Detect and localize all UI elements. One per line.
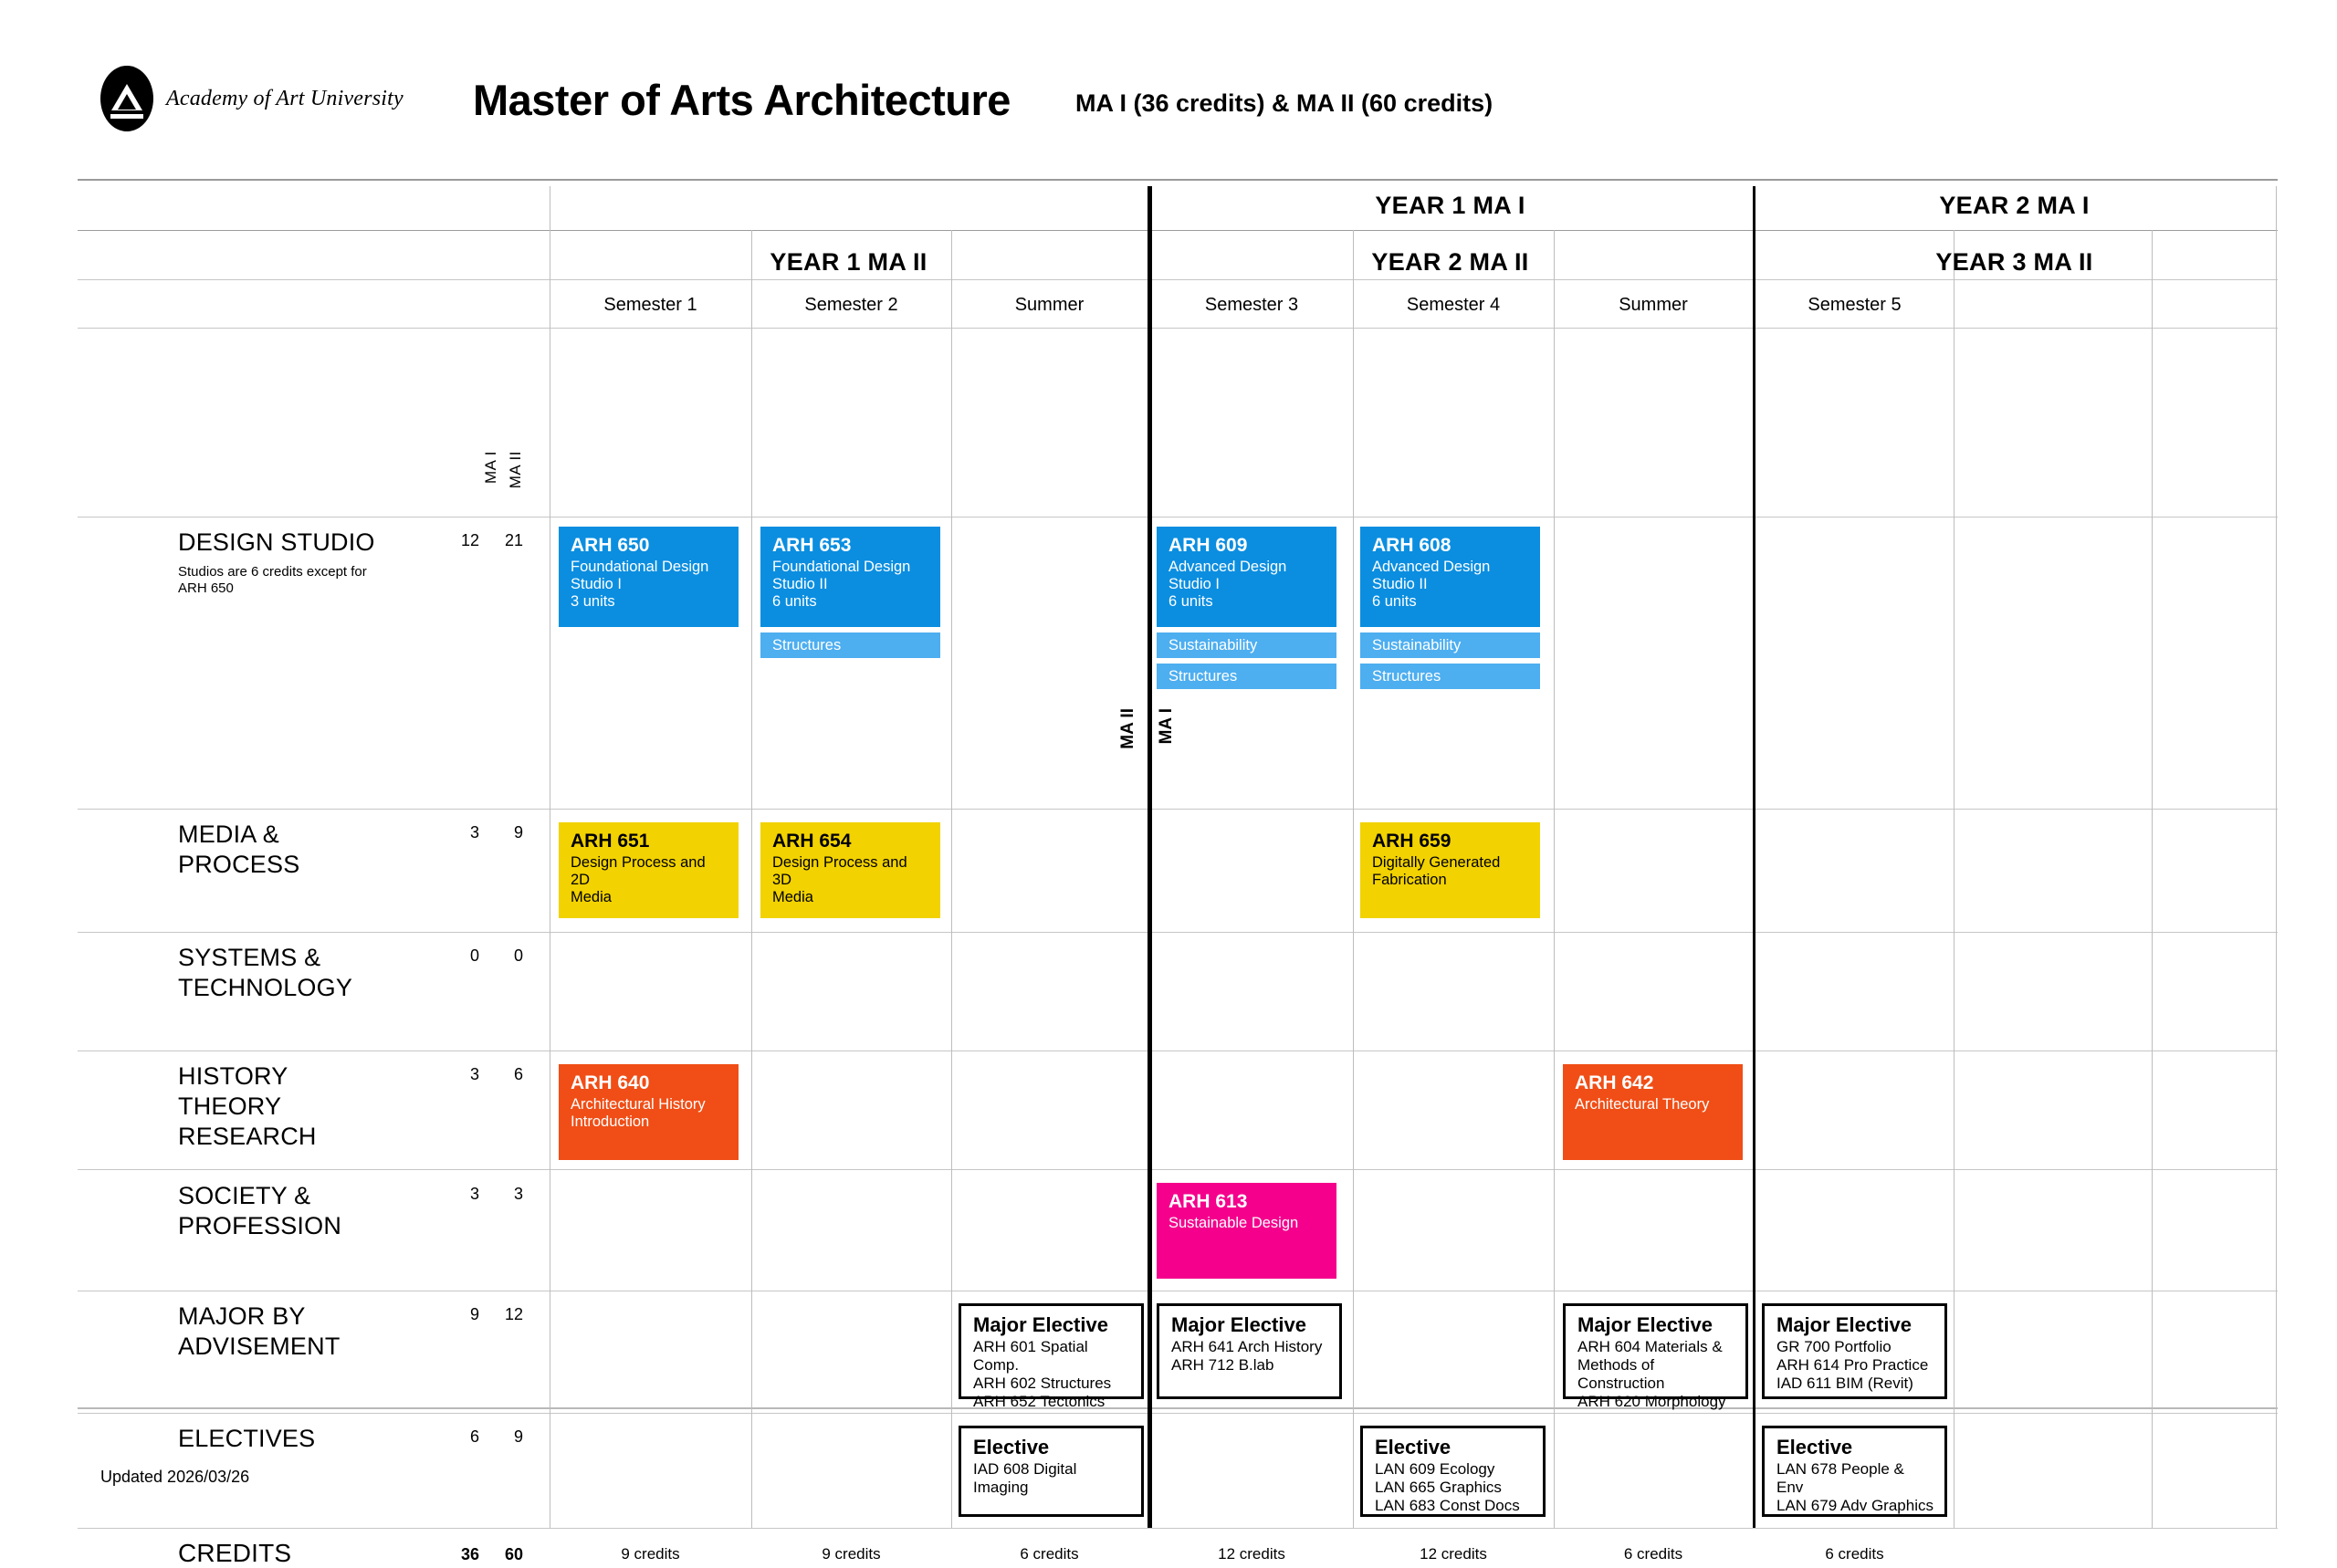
row-ma1-society: 3 (446, 1185, 479, 1204)
course-code: ARH 609 (1168, 535, 1326, 557)
row-ma1-major: 9 (446, 1305, 479, 1324)
row-label-electives: ELECTIVES (178, 1424, 315, 1454)
course-desc: Architectural History Introduction (571, 1096, 728, 1131)
col-header-semester-3: Semester 3 (1150, 295, 1353, 316)
card-title: Elective (1375, 1437, 1533, 1458)
course-code: ARH 613 (1168, 1191, 1326, 1213)
credits-cell-summer-2: 6 credits (1554, 1545, 1753, 1563)
col-sep-sem1-sem2 (751, 230, 752, 1528)
page-subtitle: MA I (36 credits) & MA II (60 credits) (1075, 89, 1493, 118)
course-desc: Sustainable Design (1168, 1215, 1326, 1232)
course-desc: Architectural Theory (1575, 1096, 1733, 1113)
row-ma1-history: 3 (446, 1065, 479, 1084)
tag-structures-arh608[interactable]: Structures (1360, 664, 1540, 689)
row-label-media-process: MEDIA & PROCESS (178, 820, 299, 880)
academy-triangle-logo-icon (100, 66, 153, 131)
row-label-major-by-advisement: MAJOR BY ADVISEMENT (178, 1301, 341, 1362)
col-sep-sem5-blank1 (1954, 230, 1954, 1528)
credits-cell-semester-2: 9 credits (751, 1545, 951, 1563)
col-sep-year2-start (1753, 186, 1755, 1528)
tag-sustainability-arh608[interactable]: Sustainability (1360, 632, 1540, 658)
row-ma2-electives: 9 (490, 1427, 523, 1447)
col-header-semester-5: Semester 5 (1755, 295, 1954, 316)
course-desc: Design Process and 2D Media (571, 854, 728, 906)
course-code: ARH 650 (571, 535, 728, 557)
col-header-summer-2: Summer (1554, 295, 1753, 316)
updated-label: Updated 2026/03/26 (100, 1468, 249, 1487)
major-elective-semester-5[interactable]: Major Elective GR 700 Portfolio ARH 614 … (1762, 1303, 1947, 1399)
row-ma1-electives: 6 (446, 1427, 479, 1447)
credits-cell-semester-1: 9 credits (550, 1545, 751, 1563)
course-desc: Digitally Generated Fabrication (1372, 854, 1530, 889)
major-elective-semester-3[interactable]: Major Elective ARH 641 Arch History ARH … (1157, 1303, 1342, 1399)
row-label-history-theory-research: HISTORY THEORY RESEARCH (178, 1061, 317, 1152)
credits-cell-semester-5: 6 credits (1755, 1545, 1954, 1563)
row-ma2-major: 12 (490, 1305, 523, 1324)
divider-label-ma1: MA I (1157, 708, 1177, 744)
col-sep-sem3-sem4 (1353, 230, 1354, 1528)
row-ma1-systems-technology: 0 (446, 946, 479, 966)
major-elective-summer-2[interactable]: Major Elective ARH 604 Materials & Metho… (1563, 1303, 1748, 1399)
card-courses: LAN 678 People & Env LAN 679 Adv Graphic… (1776, 1460, 1934, 1515)
course-desc: Advanced Design Studio II 6 units (1372, 559, 1530, 611)
credits-row-label: CREDITS (178, 1539, 291, 1568)
credits-cell-summer-1: 6 credits (951, 1545, 1148, 1563)
year-band-year2-ma2: YEAR 2 MA II (1148, 248, 1753, 277)
tag-structures-arh653[interactable]: Structures (760, 632, 940, 658)
row-ma2-media-process: 9 (490, 823, 523, 842)
brand-name: Academy of Art University (166, 87, 403, 111)
col-header-semester-2: Semester 2 (751, 295, 951, 316)
col-sep-sem2-summer (951, 230, 952, 1528)
course-card-arh653[interactable]: ARH 653 Foundational Design Studio II 6 … (760, 527, 940, 627)
year-band-year2-ma1: YEAR 2 MA I (1753, 192, 2276, 220)
course-code: ARH 651 (571, 831, 728, 852)
course-card-arh651[interactable]: ARH 651 Design Process and 2D Media (559, 822, 739, 918)
credits-cell-semester-3: 12 credits (1150, 1545, 1353, 1563)
elective-summer-1[interactable]: Elective IAD 608 Digital Imaging (959, 1426, 1144, 1517)
row-ma2-design-studio: 21 (490, 531, 523, 550)
card-title: Major Elective (1577, 1314, 1735, 1336)
card-title: Elective (973, 1437, 1131, 1458)
card-courses: LAN 609 Ecology LAN 665 Graphics LAN 683… (1375, 1460, 1533, 1515)
row-rule-7 (78, 1413, 2278, 1414)
category-label-column: MA I MA II DESIGN STUDIO Studios are 6 c… (78, 179, 452, 1409)
elective-semester-4[interactable]: Elective LAN 609 Ecology LAN 665 Graphic… (1360, 1426, 1546, 1517)
course-card-arh640[interactable]: ARH 640 Architectural History Introducti… (559, 1064, 739, 1160)
course-desc: Foundational Design Studio I 3 units (571, 559, 728, 611)
course-code: ARH 640 (571, 1072, 728, 1094)
course-code: ARH 653 (772, 535, 930, 557)
row-ma1-design-studio: 12 (446, 531, 479, 550)
card-title: Major Elective (1776, 1314, 1934, 1336)
card-courses: ARH 604 Materials & Methods of Construct… (1577, 1338, 1735, 1411)
card-courses: GR 700 Portfolio ARH 614 Pro Practice IA… (1776, 1338, 1934, 1393)
col-sep-blank1-blank2 (2152, 230, 2153, 1528)
card-courses: IAD 608 Digital Imaging (973, 1460, 1131, 1497)
col-sep-sem1-left (550, 186, 550, 1528)
course-card-arh650[interactable]: ARH 650 Foundational Design Studio I 3 u… (559, 527, 739, 627)
course-card-arh642[interactable]: ARH 642 Architectural Theory (1563, 1064, 1743, 1160)
page-header: Academy of Art University Master of Arts… (0, 0, 2337, 173)
row-note-design-studio: Studios are 6 credits except for ARH 650 (178, 564, 367, 597)
card-courses: ARH 641 Arch History ARH 712 B.lab (1171, 1338, 1329, 1375)
course-card-arh613[interactable]: ARH 613 Sustainable Design (1157, 1183, 1336, 1279)
credits-ma2-total: 60 (490, 1545, 523, 1564)
elective-semester-5[interactable]: Elective LAN 678 People & Env LAN 679 Ad… (1762, 1426, 1947, 1517)
row-ma2-systems-technology: 0 (490, 946, 523, 966)
brand-logo: Academy of Art University (100, 66, 403, 131)
course-desc: Advanced Design Studio I 6 units (1168, 559, 1326, 611)
divider-label-ma2: MA II (1118, 708, 1138, 749)
course-desc: Design Process and 3D Media (772, 854, 930, 906)
ma1-column-header: MA I (482, 451, 500, 484)
course-card-arh659[interactable]: ARH 659 Digitally Generated Fabrication (1360, 822, 1540, 918)
row-ma2-society: 3 (490, 1185, 523, 1204)
col-header-semester-1: Semester 1 (550, 295, 751, 316)
col-sep-sem4-summer2 (1554, 230, 1555, 1528)
year-band-year1-ma1: YEAR 1 MA I (1148, 192, 1753, 220)
col-header-semester-4: Semester 4 (1353, 295, 1554, 316)
year-band-year3-ma2: YEAR 3 MA II (1753, 248, 2276, 277)
frame-right-edge (2276, 186, 2277, 1528)
row-ma1-media-process: 3 (446, 823, 479, 842)
ma2-column-header: MA II (507, 451, 525, 488)
year-band-year1-ma2: YEAR 1 MA II (550, 248, 1148, 277)
course-desc: Foundational Design Studio II 6 units (772, 559, 930, 611)
page-title: Master of Arts Architecture (473, 75, 1011, 125)
row-ma2-history: 6 (490, 1065, 523, 1084)
major-elective-summer-1[interactable]: Major Elective ARH 601 Spatial Comp. ARH… (959, 1303, 1144, 1399)
course-code: ARH 608 (1372, 535, 1530, 557)
course-card-arh608[interactable]: ARH 608 Advanced Design Studio II 6 unit… (1360, 527, 1540, 627)
card-title: Elective (1776, 1437, 1934, 1458)
curriculum-matrix: MA I MA II DESIGN STUDIO Studios are 6 c… (78, 179, 2278, 1409)
card-title: Major Elective (973, 1314, 1131, 1336)
course-code: ARH 654 (772, 831, 930, 852)
course-code: ARH 659 (1372, 831, 1530, 852)
tag-sustainability-arh609[interactable]: Sustainability (1157, 632, 1336, 658)
divider-ma2-ma1 (1148, 186, 1152, 1528)
row-label-design-studio: DESIGN STUDIO (178, 528, 375, 558)
tag-structures-arh609[interactable]: Structures (1157, 664, 1336, 689)
course-code: ARH 642 (1575, 1072, 1733, 1094)
card-title: Major Elective (1171, 1314, 1329, 1336)
course-card-arh654[interactable]: ARH 654 Design Process and 3D Media (760, 822, 940, 918)
row-rule-credits (78, 1528, 2278, 1529)
row-label-systems-technology: SYSTEMS & TECHNOLOGY (178, 943, 352, 1003)
course-card-arh609[interactable]: ARH 609 Advanced Design Studio I 6 units (1157, 527, 1336, 627)
card-courses: ARH 601 Spatial Comp. ARH 602 Structures… (973, 1338, 1131, 1411)
col-header-summer-1: Summer (951, 295, 1148, 316)
credits-cell-semester-4: 12 credits (1353, 1545, 1554, 1563)
row-label-society-profession: SOCIETY & PROFESSION (178, 1181, 341, 1241)
credits-ma1-total: 36 (446, 1545, 479, 1564)
